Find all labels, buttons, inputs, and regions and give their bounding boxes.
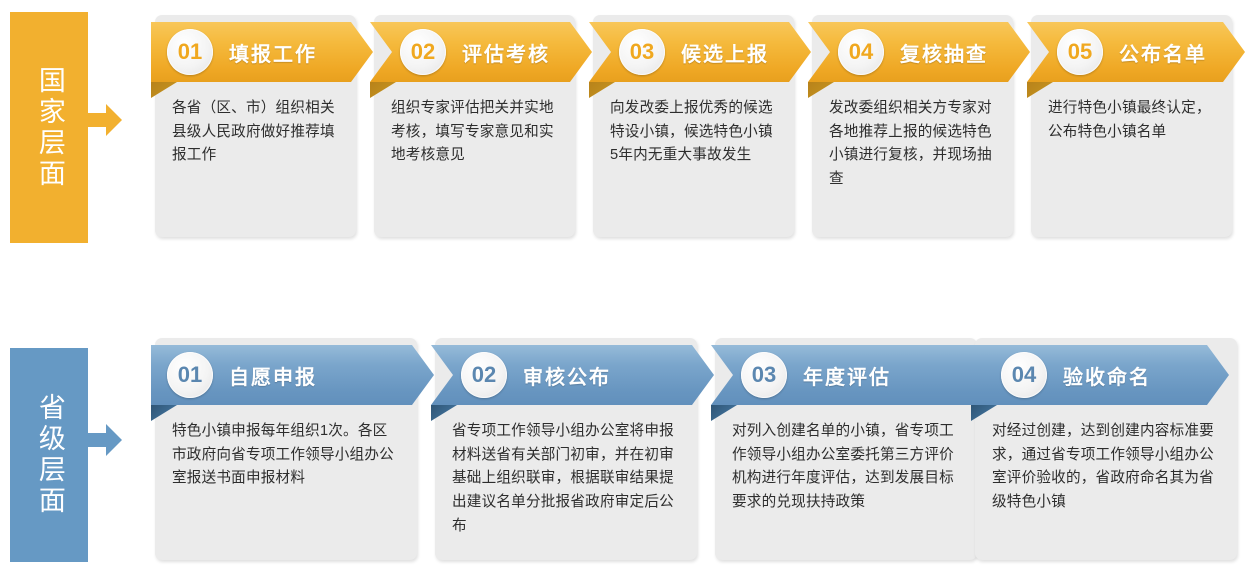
step-body: 各省（区、市）组织相关县级人民政府做好推荐填报工作: [155, 97, 356, 168]
step-number-badge: 04: [1001, 352, 1047, 398]
step-title: 年度评估: [803, 361, 891, 390]
step-number-badge: 01: [167, 29, 213, 75]
banner-fold-icon: [370, 82, 396, 98]
row-label-provincial-text: 省级层面: [33, 393, 65, 517]
banner-fold-icon: [711, 405, 737, 421]
step-banner-provincial-2: 02 审核公布: [431, 345, 714, 405]
arrow-head: [106, 424, 122, 456]
banner-fold-icon: [1027, 82, 1053, 98]
step-body: 向发改委上报优秀的候选特设小镇，候选特色小镇5年内无重大事故发生: [593, 97, 794, 168]
step-number-badge: 04: [838, 29, 884, 75]
step-title: 自愿申报: [229, 361, 317, 390]
step-banner-national-1: 01 填报工作: [151, 22, 373, 82]
step-banner-national-2: 02 评估考核: [370, 22, 592, 82]
step-card-national-4[interactable]: 04 复核抽查 发改委组织相关方专家对各地推荐上报的候选特色小镇进行复核，并现场…: [812, 15, 1013, 237]
step-title: 评估考核: [462, 38, 550, 67]
step-title: 验收命名: [1063, 361, 1151, 390]
arrow-shaft: [88, 113, 108, 127]
step-number-badge: 03: [619, 29, 665, 75]
arrow-head: [106, 104, 122, 136]
banner-fold-icon: [431, 405, 457, 421]
banner-fold-icon: [971, 405, 997, 421]
step-body: 特色小镇申报每年组织1次。各区市政府向省专项工作领导小组办公室报送书面申报材料: [155, 420, 417, 491]
step-banner-provincial-4: 04 验收命名: [971, 345, 1229, 405]
step-banner-national-3: 03 候选上报: [589, 22, 811, 82]
step-banner-provincial-1: 01 自愿申报: [151, 345, 434, 405]
banner-fold-icon: [808, 82, 834, 98]
step-body: 发改委组织相关方专家对各地推荐上报的候选特色小镇进行复核，并现场抽查: [812, 97, 1013, 192]
step-card-provincial-2[interactable]: 02 审核公布 省专项工作领导小组办公室将申报材料送省有关部门初审，并在初审基础…: [435, 338, 697, 560]
step-banner-provincial-3: 03 年度评估: [711, 345, 994, 405]
step-card-provincial-3[interactable]: 03 年度评估 对列入创建名单的小镇，省专项工作领导小组办公室委托第三方评价机构…: [715, 338, 977, 560]
step-number-badge: 03: [741, 352, 787, 398]
arrow-shaft: [88, 433, 108, 447]
step-card-provincial-1[interactable]: 01 自愿申报 特色小镇申报每年组织1次。各区市政府向省专项工作领导小组办公室报…: [155, 338, 417, 560]
step-number-badge: 01: [167, 352, 213, 398]
step-title: 复核抽查: [900, 38, 988, 67]
banner-fold-icon: [589, 82, 615, 98]
flow-diagram: 国家层面 01 填报工作 各省（区、市）组织相关县级人民政府做好推荐填报工作 0…: [0, 0, 1251, 568]
step-card-national-1[interactable]: 01 填报工作 各省（区、市）组织相关县级人民政府做好推荐填报工作: [155, 15, 356, 237]
step-number-badge: 05: [1057, 29, 1103, 75]
step-title: 候选上报: [681, 38, 769, 67]
row-label-national-text: 国家层面: [33, 66, 65, 190]
step-title: 公布名单: [1119, 38, 1207, 67]
feed-arrow-national-icon: [88, 104, 122, 136]
step-banner-national-4: 04 复核抽查: [808, 22, 1030, 82]
step-number-badge: 02: [461, 352, 507, 398]
row-label-national: 国家层面: [10, 12, 88, 243]
banner-fold-icon: [151, 82, 177, 98]
step-body: 进行特色小镇最终认定，公布特色小镇名单: [1031, 97, 1232, 144]
feed-arrow-provincial-icon: [88, 424, 122, 456]
step-title: 填报工作: [229, 38, 317, 67]
step-body: 省专项工作领导小组办公室将申报材料送省有关部门初审，并在初审基础上组织联审，根据…: [435, 420, 697, 538]
step-card-national-3[interactable]: 03 候选上报 向发改委上报优秀的候选特设小镇，候选特色小镇5年内无重大事故发生: [593, 15, 794, 237]
step-card-national-5[interactable]: 05 公布名单 进行特色小镇最终认定，公布特色小镇名单: [1031, 15, 1232, 237]
step-title: 审核公布: [523, 361, 611, 390]
step-body: 对列入创建名单的小镇，省专项工作领导小组办公室委托第三方评价机构进行年度评估，达…: [715, 420, 977, 515]
step-banner-national-5: 05 公布名单: [1027, 22, 1245, 82]
banner-fold-icon: [151, 405, 177, 421]
step-number-badge: 02: [400, 29, 446, 75]
row-label-provincial: 省级层面: [10, 348, 88, 562]
step-card-national-2[interactable]: 02 评估考核 组织专家评估把关并实地考核，填写专家意见和实地考核意见: [374, 15, 575, 237]
step-card-provincial-4[interactable]: 04 验收命名 对经过创建，达到创建内容标准要求，通过省专项工作领导小组办公室评…: [975, 338, 1237, 560]
step-body: 组织专家评估把关并实地考核，填写专家意见和实地考核意见: [374, 97, 575, 168]
step-body: 对经过创建，达到创建内容标准要求，通过省专项工作领导小组办公室评价验收的，省政府…: [975, 420, 1237, 515]
